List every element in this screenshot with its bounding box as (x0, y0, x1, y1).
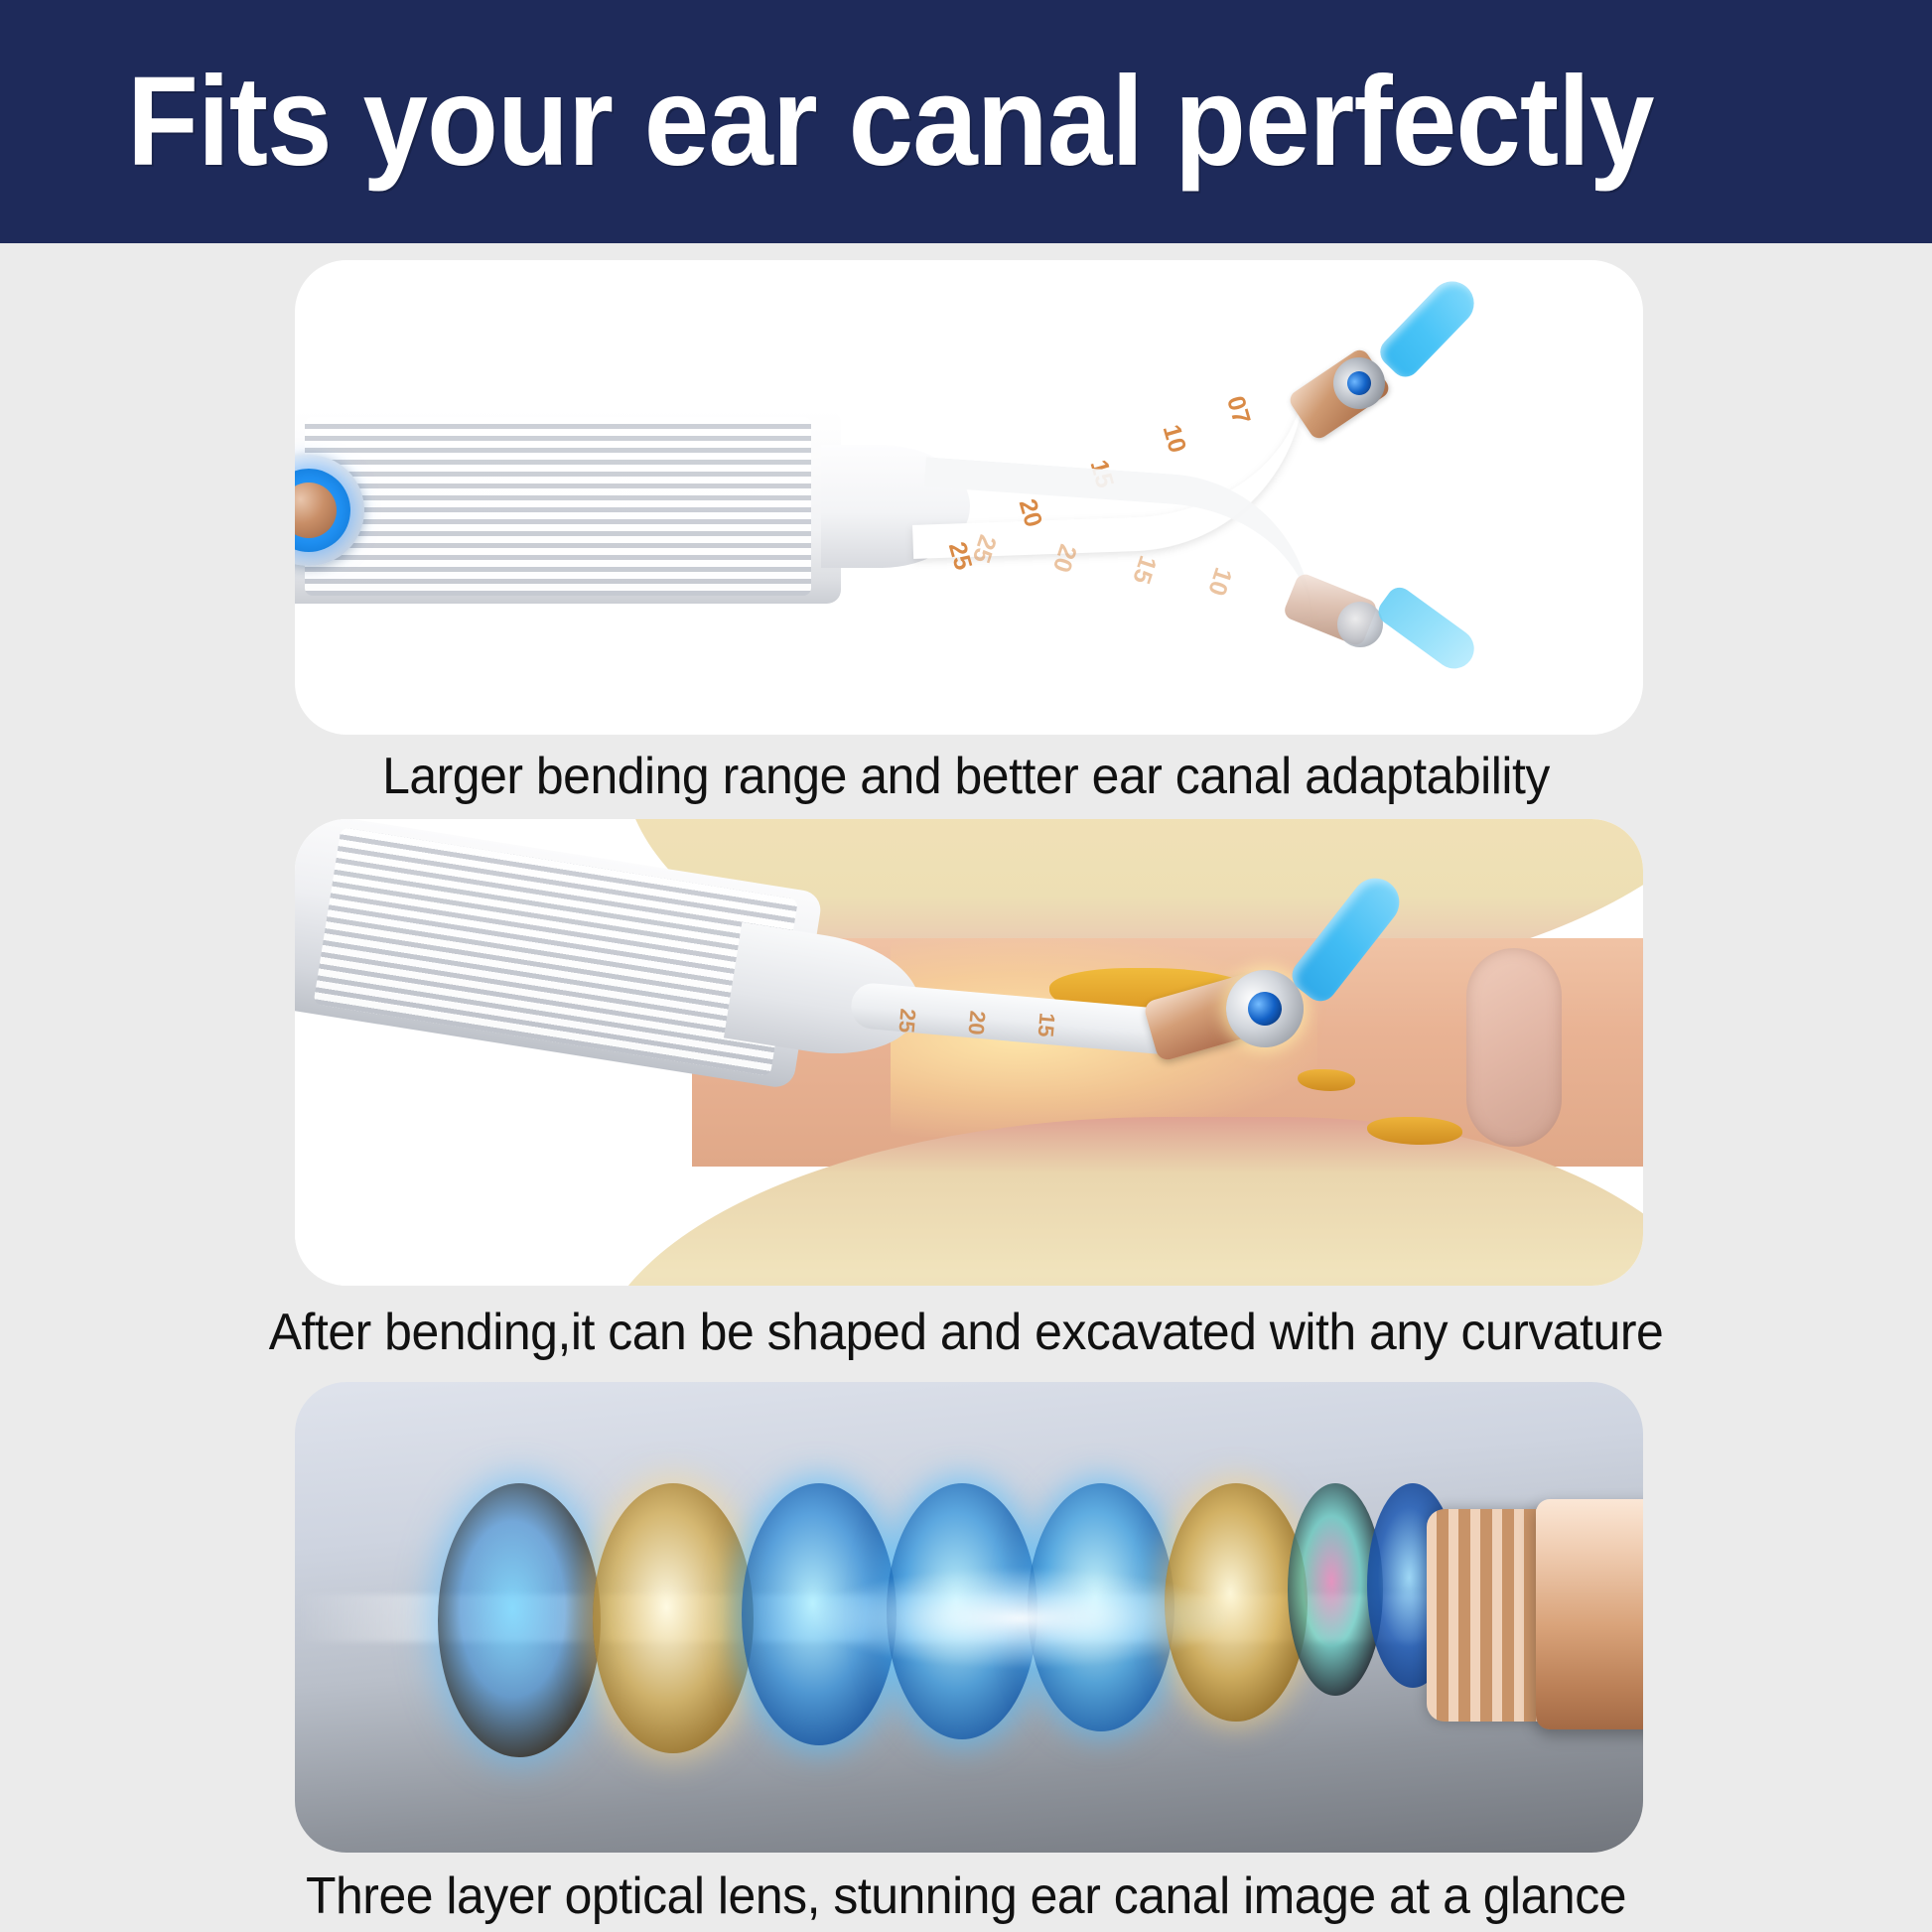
lens-element-1 (438, 1483, 601, 1757)
depth-mark-07: 07 (1220, 393, 1256, 428)
depth-mark-25-lower: 25 (966, 531, 1002, 566)
device-handle-ribbed (295, 409, 841, 604)
page-title: Fits your ear canal perfectly (127, 59, 1654, 186)
camera-barrel-rose-gold (1536, 1499, 1643, 1729)
depth-mark-10-lower: 10 (1201, 564, 1237, 599)
depth-mark-15-lower: 15 (1126, 552, 1162, 587)
camera-lens-lower-icon (1337, 602, 1383, 647)
caption-bending-range: Larger bending range and better ear cana… (39, 747, 1893, 806)
caption-any-curvature: After bending,it can be shaped and excav… (39, 1303, 1893, 1362)
silicone-scoop-lower (1373, 583, 1481, 677)
depth-mark-15-inserted: 15 (1033, 1012, 1060, 1038)
lens-element-2 (593, 1483, 754, 1753)
depth-mark-20-inserted: 20 (962, 1010, 990, 1036)
feature-panel-ear-canal-insertion: 25 20 15 (295, 819, 1643, 1286)
depth-mark-10: 10 (1157, 422, 1192, 457)
feature-panel-optical-lens (295, 1382, 1643, 1853)
silicone-scoop-upper (1374, 272, 1482, 382)
eardrum (1466, 948, 1562, 1147)
depth-mark-25-inserted: 25 (893, 1008, 920, 1035)
page-header: Fits your ear canal perfectly (0, 0, 1932, 243)
feature-panel-bending-range: 25 20 15 10 07 25 20 15 10 (295, 260, 1643, 735)
depth-mark-20-lower: 20 (1046, 541, 1082, 576)
caption-optical-lens: Three layer optical lens, stunning ear c… (39, 1866, 1893, 1926)
lens-flare (811, 1569, 1228, 1668)
